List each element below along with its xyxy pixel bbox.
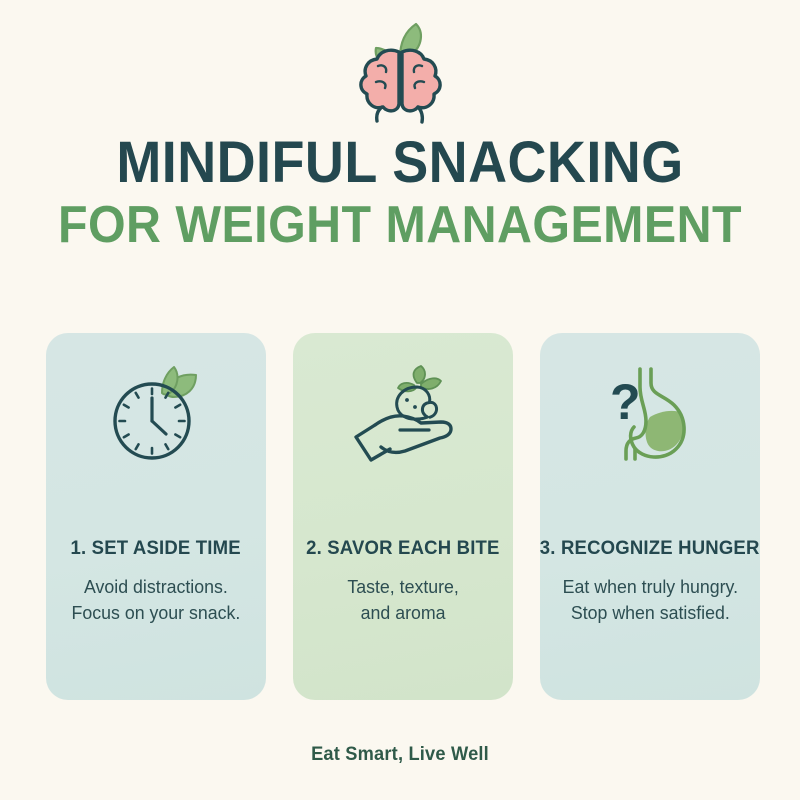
tip-card-body: Avoid distractions. Focus on your snack. xyxy=(62,574,250,626)
tip-card-body-line1: Eat when truly hungry. xyxy=(562,576,737,597)
tips-card-row: 1. SET ASIDE TIME Avoid distractions. Fo… xyxy=(46,333,760,700)
tip-card-body-line1: Avoid distractions. xyxy=(84,576,228,597)
title-line-primary: MINDIFUL SNACKING xyxy=(28,132,772,194)
stomach-question-icon: ? xyxy=(594,355,706,475)
footer-tagline: Eat Smart, Live Well xyxy=(16,744,784,766)
hand-apple-icon xyxy=(345,355,461,475)
tip-card-recognize-hunger[interactable]: ? 3. RECOGNIZE HUNGER Eat when truly hun… xyxy=(540,333,760,700)
tip-card-set-aside-time[interactable]: 1. SET ASIDE TIME Avoid distractions. Fo… xyxy=(46,333,266,700)
tip-card-body: Eat when truly hungry. Stop when satisfi… xyxy=(553,574,748,626)
page-title: MINDIFUL SNACKING FOR WEIGHT MANAGEMENT xyxy=(0,132,800,254)
tip-card-body-line2: Stop when satisfied. xyxy=(571,602,730,623)
tip-card-body: Taste, texture, and aroma xyxy=(338,574,469,626)
clock-leaf-icon xyxy=(104,355,208,475)
tip-card-body-line2: and aroma xyxy=(361,602,446,623)
tip-card-body-line2: Focus on your snack. xyxy=(72,602,241,623)
header-icon-wrap xyxy=(0,18,800,131)
tip-card-body-line1: Taste, texture, xyxy=(347,576,459,597)
infographic-poster: MINDIFUL SNACKING FOR WEIGHT MANAGEMENT xyxy=(0,0,800,800)
tip-card-heading: 3. RECOGNIZE HUNGER xyxy=(540,537,760,560)
tip-card-heading: 1. SET ASIDE TIME xyxy=(71,537,241,560)
brain-sprout-icon xyxy=(344,18,456,131)
tip-card-heading: 2. SAVOR EACH BITE xyxy=(306,537,500,560)
svg-text:?: ? xyxy=(610,374,641,430)
tip-card-savor-each-bite[interactable]: 2. SAVOR EACH BITE Taste, texture, and a… xyxy=(293,333,513,700)
title-line-secondary: FOR WEIGHT MANAGEMENT xyxy=(28,196,772,254)
